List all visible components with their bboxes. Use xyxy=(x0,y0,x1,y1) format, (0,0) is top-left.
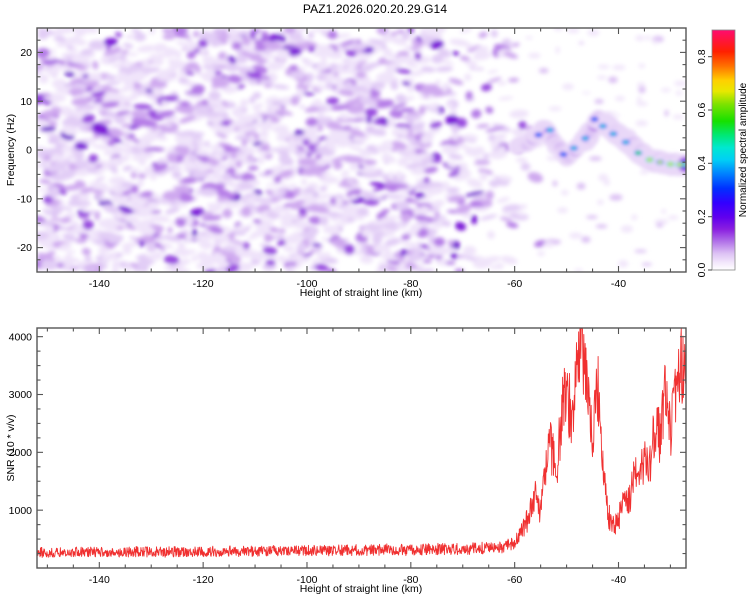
snr-ylabel: SNR (10 * v/v) xyxy=(5,414,17,481)
snr-panel: -140-120-100-80-60-401000200030004000 He… xyxy=(5,328,686,595)
snr-xtick-label: -120 xyxy=(193,574,214,586)
snr-ytick-label: 4000 xyxy=(9,331,33,343)
snr-xtick-label: -40 xyxy=(611,574,626,586)
colorbar-gradient xyxy=(712,30,735,270)
snr-ytick-label: 1000 xyxy=(9,505,33,517)
spectrogram-ylabel: Frequency (Hz) xyxy=(5,114,17,186)
spectrogram-ytick-label: -20 xyxy=(17,242,32,254)
colorbar-tick-label: 0.0 xyxy=(696,263,708,278)
colorbar: 0.00.20.40.60.8 Normalized spectral ampl… xyxy=(696,30,749,277)
snr-xtick-label: -60 xyxy=(507,574,522,586)
snr-ytick-label: 3000 xyxy=(9,389,33,401)
spectrogram-xtick-label: -40 xyxy=(611,278,626,290)
spectrogram-xtick-label: -120 xyxy=(193,278,214,290)
spectrogram-ytick-label: 20 xyxy=(20,47,32,59)
spectrogram-ytick-label: 10 xyxy=(20,96,32,108)
spectrogram-xtick-label: -60 xyxy=(507,278,522,290)
colorbar-label: Normalized spectral amplitude xyxy=(738,82,749,217)
snr-plot-area xyxy=(37,328,686,568)
snr-xtick-label: -140 xyxy=(89,574,110,586)
spectrogram-ytick-label: 0 xyxy=(26,145,32,157)
spectrogram-ytick-label: -10 xyxy=(17,193,32,205)
spectrogram-panel: -140-120-100-80-60-40-20-1001020 Height … xyxy=(5,22,697,299)
colorbar-tick-label: 0.4 xyxy=(696,156,708,171)
spectrogram-xtick-label: -140 xyxy=(89,278,110,290)
colorbar-tick-label: 0.8 xyxy=(696,49,708,64)
colorbar-tick-label: 0.6 xyxy=(696,103,708,118)
colorbar-tick-label: 0.2 xyxy=(696,209,708,224)
figure-root: PAZ1.2026.020.20.29.G14 xyxy=(0,0,750,600)
plot-canvas: -140-120-100-80-60-40-20-1001020 Height … xyxy=(0,0,750,600)
colorbar-tick-labels: 0.00.20.40.60.8 xyxy=(696,49,708,277)
snr-xlabel: Height of straight line (km) xyxy=(300,583,423,595)
figure-title: PAZ1.2026.020.20.29.G14 xyxy=(0,2,750,16)
colorbar-ticks xyxy=(708,57,712,270)
spectrogram-xlabel: Height of straight line (km) xyxy=(300,287,423,299)
